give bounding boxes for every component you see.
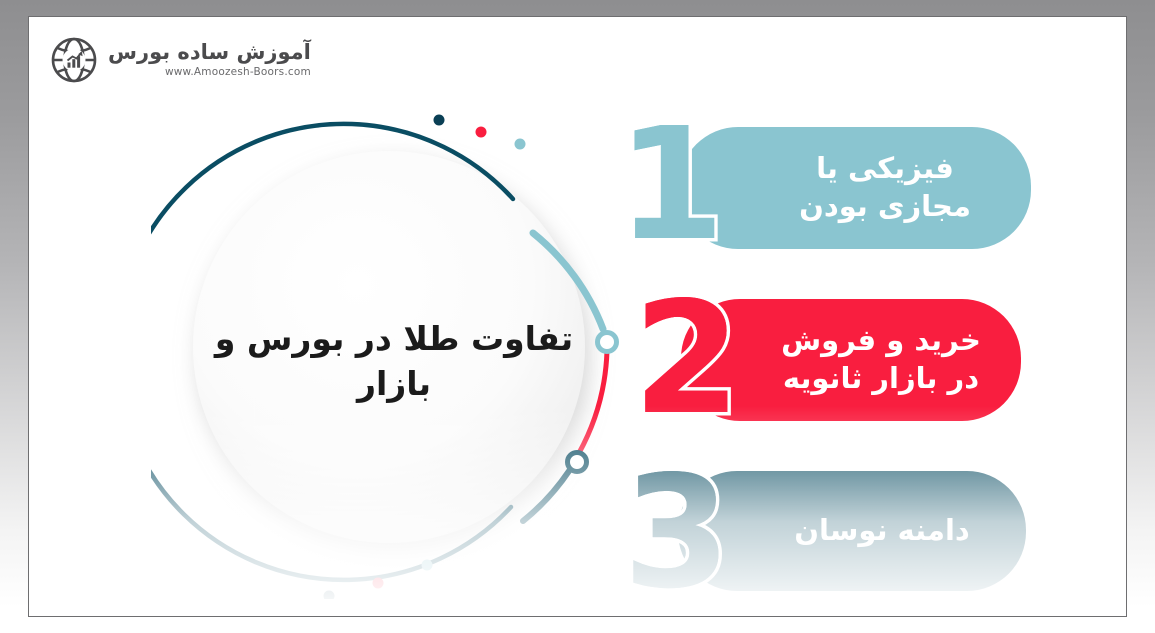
- item-1-number: 1: [617, 121, 725, 249]
- decor-dot-blue-top: [515, 139, 526, 150]
- item-2-label: خرید و فروش در بازار ثانویه: [771, 322, 991, 397]
- item-2-number: 2: [633, 295, 741, 423]
- brand-logo[interactable]: آموزش ساده بورس www.Amoozesh-Boors.com: [49, 35, 311, 85]
- item-1-pill[interactable]: فیزیکی یا مجازی بودن: [679, 127, 1031, 249]
- numbered-list: فیزیکی یا مجازی بودن 1 1 خرید و فروش در …: [611, 117, 1031, 617]
- brand-text: آموزش ساده بورس www.Amoozesh-Boors.com: [108, 42, 311, 78]
- decor-dot-red-bottom: [373, 578, 384, 589]
- infographic-poster: آموزش ساده بورس www.Amoozesh-Boors.com: [0, 0, 1155, 633]
- item-1-label: فیزیکی یا مجازی بودن: [769, 150, 1001, 225]
- emblem-title: تفاوت طلا در بورس و بازار: [174, 317, 614, 406]
- list-item-3[interactable]: دامنه نوسان 3 3: [611, 461, 1031, 601]
- item-3-label: دامنه نوسان: [794, 512, 970, 550]
- list-item-2[interactable]: خرید و فروش در بازار ثانویه 2 2: [611, 289, 1031, 429]
- globe-chart-icon: [49, 35, 99, 85]
- decor-dot-dark-bottom: [324, 591, 335, 600]
- decor-dot-dark-top: [434, 115, 445, 126]
- decor-dot-red-top: [476, 127, 487, 138]
- item-3-number: 3: [623, 469, 731, 597]
- ring-node-lower: [568, 453, 587, 472]
- list-item-1[interactable]: فیزیکی یا مجازی بودن 1 1: [611, 117, 1031, 257]
- decor-dot-blue-bottom: [422, 560, 433, 571]
- brand-url: www.Amoozesh-Boors.com: [165, 67, 311, 78]
- brand-name: آموزش ساده بورس: [108, 42, 311, 63]
- poster-inner-frame: آموزش ساده بورس www.Amoozesh-Boors.com: [28, 16, 1127, 617]
